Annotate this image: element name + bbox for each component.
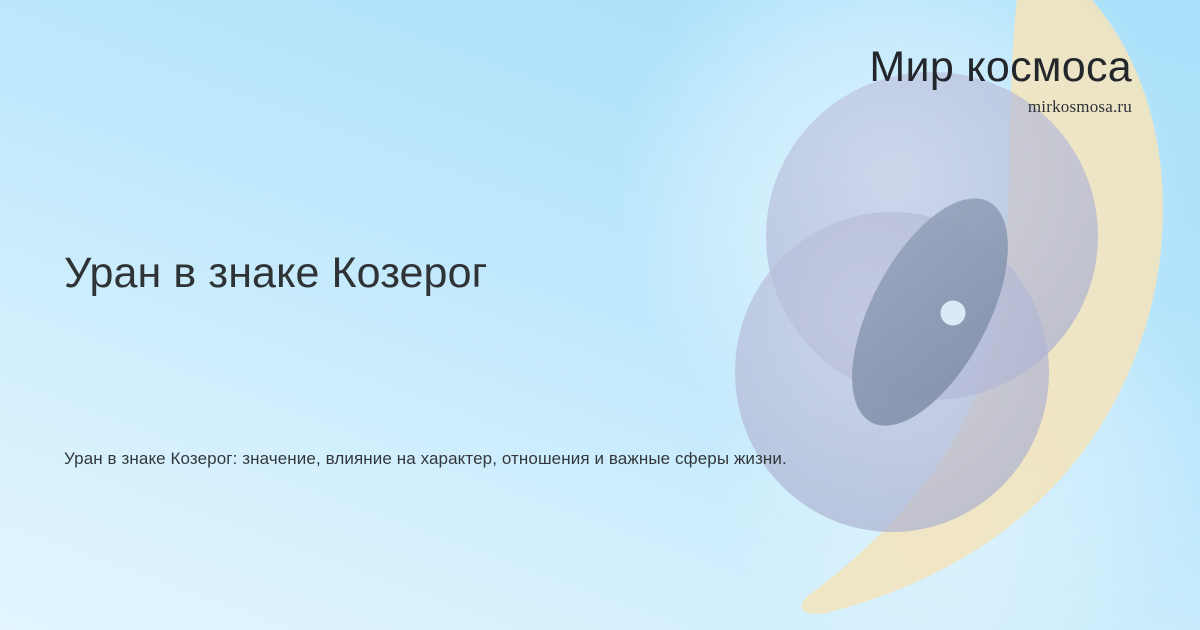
core-dot (941, 301, 966, 326)
page-description: Уран в знаке Козерог: значение, влияние … (64, 447, 787, 472)
brand-logo[interactable]: Мир космоса mirkosmosa.ru (869, 46, 1132, 115)
orb-lower (735, 212, 1049, 532)
orb-upper (766, 72, 1098, 400)
page-title: Уран в знаке Козерог (64, 249, 487, 299)
brand-name: Мир космоса (869, 46, 1132, 89)
brand-url: mirkosmosa.ru (869, 98, 1132, 115)
social-share-card: Мир космоса mirkosmosa.ru Уран в знаке К… (0, 0, 1200, 630)
ring-ellipse (820, 174, 1040, 449)
background-glow-lower (700, 250, 1200, 630)
